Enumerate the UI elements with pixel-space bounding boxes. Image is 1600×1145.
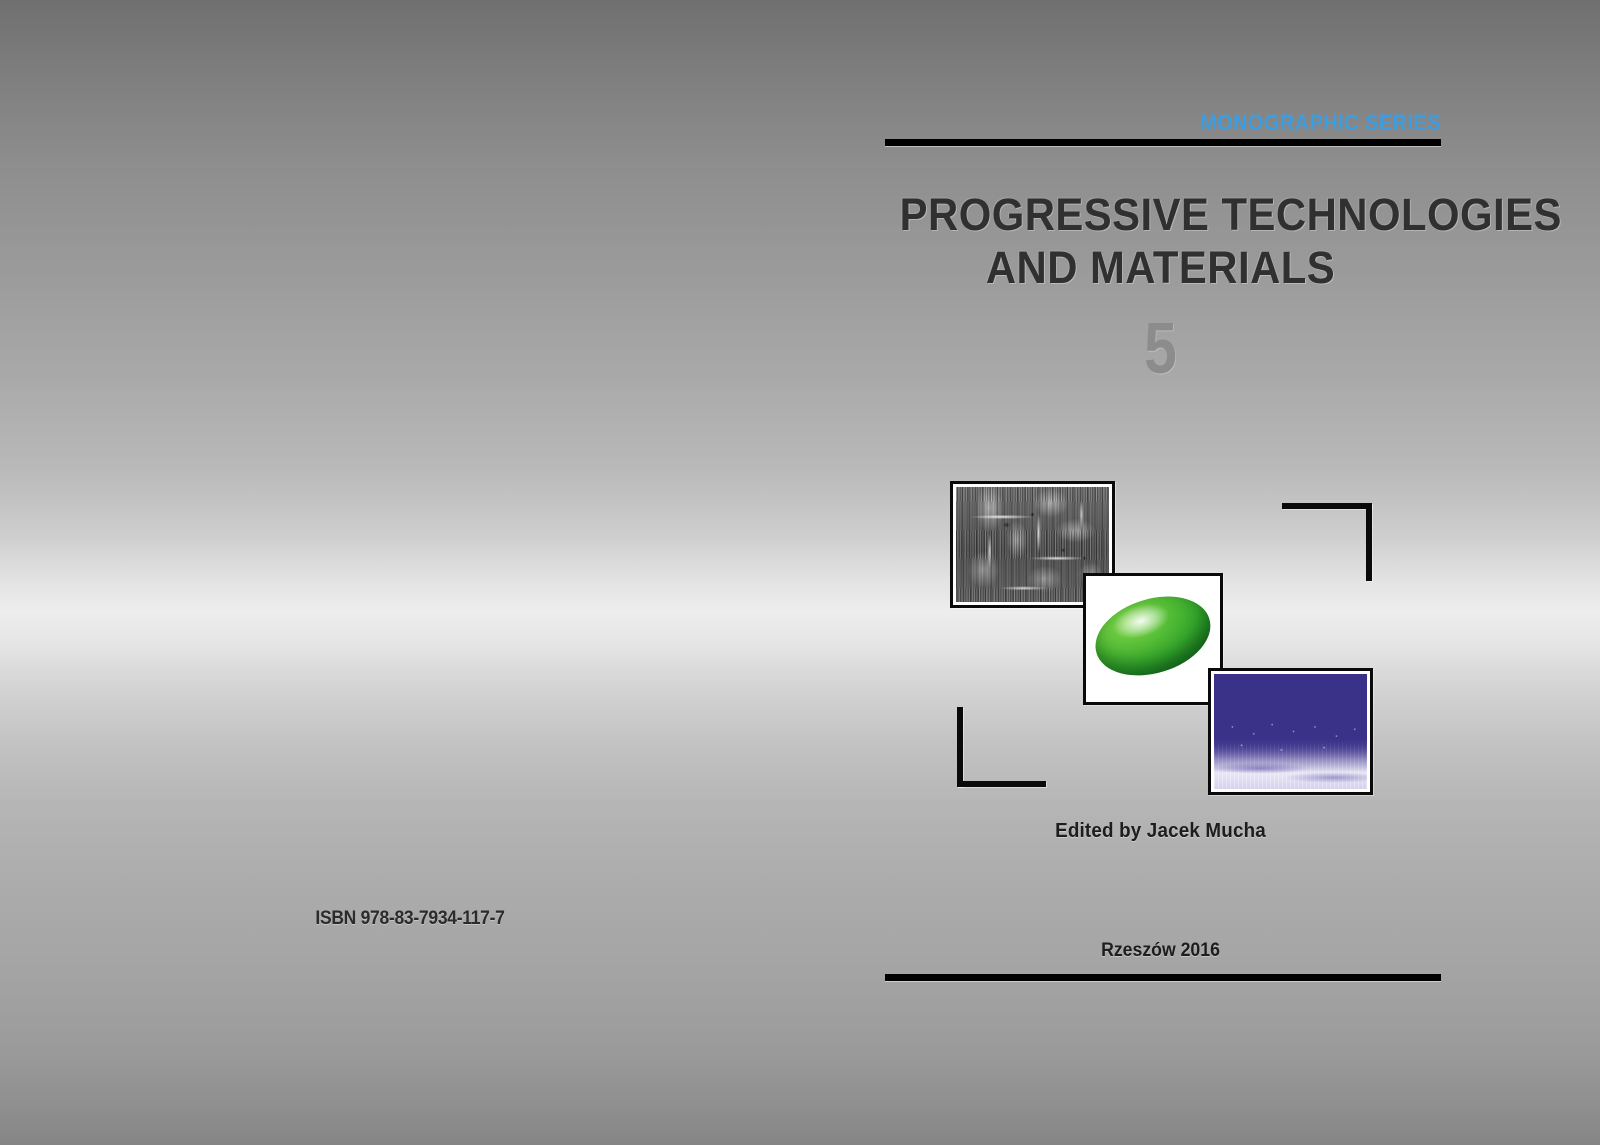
afm-speckle-texture bbox=[1214, 674, 1367, 789]
corner-bracket-bottom-left-horizontal bbox=[957, 781, 1046, 787]
front-cover-panel: MONOGRAPHIC SERIES PROGRESSIVE TECHNOLOG… bbox=[880, 0, 1600, 1145]
corner-bracket-top-right-vertical bbox=[1366, 503, 1372, 581]
ellipsoid-canvas bbox=[1089, 579, 1217, 699]
volume-number: 5 bbox=[930, 310, 1390, 388]
top-divider-rule bbox=[885, 139, 1441, 146]
corner-bracket-top-right-horizontal bbox=[1282, 503, 1372, 509]
title-line-2: AND MATERIALS bbox=[900, 241, 1422, 294]
monographic-series-label: MONOGRAPHIC SERIES bbox=[936, 110, 1441, 136]
green-ellipsoid-render-image bbox=[1083, 573, 1223, 705]
isbn-text: ISBN 978-83-7934-117-7 bbox=[33, 908, 787, 930]
corner-bracket-bottom-left-vertical bbox=[957, 707, 963, 787]
place-and-year: Rzeszów 2016 bbox=[900, 940, 1422, 962]
afm-scan-surface bbox=[1214, 674, 1367, 789]
title-line-1: PROGRESSIVE TECHNOLOGIES bbox=[900, 188, 1422, 241]
book-cover: ISBN 978-83-7934-117-7 MONOGRAPHIC SERIE… bbox=[0, 0, 1600, 1145]
editor-credit: Edited by Jacek Mucha bbox=[897, 820, 1424, 843]
back-cover-panel: ISBN 978-83-7934-117-7 bbox=[0, 0, 880, 1145]
page-title: PROGRESSIVE TECHNOLOGIES AND MATERIALS bbox=[880, 188, 1441, 294]
ellipsoid-shape bbox=[1089, 584, 1217, 690]
bottom-divider-rule bbox=[885, 974, 1441, 981]
afm-purple-scan-image bbox=[1208, 668, 1373, 795]
